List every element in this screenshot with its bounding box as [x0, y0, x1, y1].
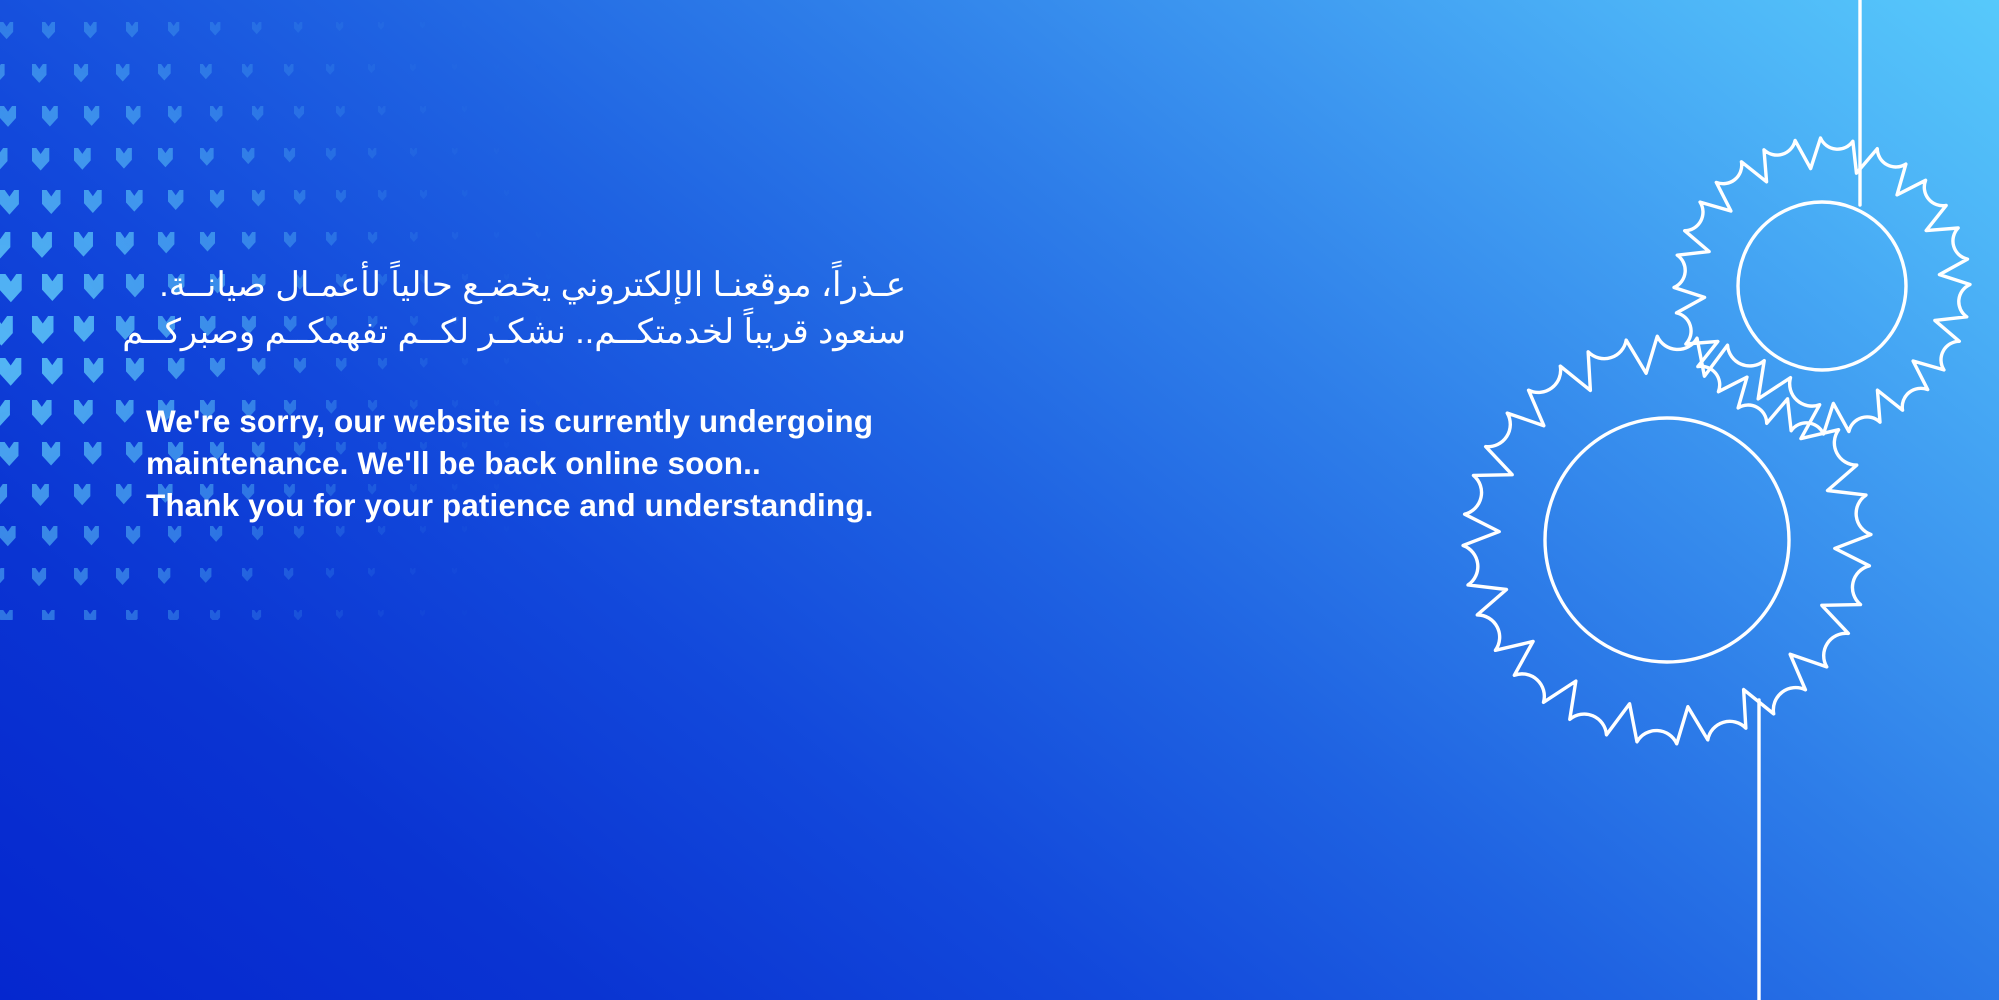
large-gear-hub	[1545, 418, 1789, 662]
gear-graphic	[1239, 0, 1999, 1000]
arabic-line-1: عـذراً، موقعنـا الإلكتروني يخضـع حالياً …	[146, 262, 906, 309]
small-gear	[1674, 138, 1970, 434]
arabic-message: عـذراً، موقعنـا الإلكتروني يخضـع حالياً …	[146, 262, 906, 356]
english-message: We're sorry, our website is currently un…	[146, 400, 906, 526]
maintenance-message: عـذراً، موقعنـا الإلكتروني يخضـع حالياً …	[146, 262, 906, 526]
english-line-2: maintenance. We'll be back online soon..	[146, 442, 906, 484]
english-line-1: We're sorry, our website is currently un…	[146, 400, 906, 442]
small-gear-hub	[1738, 202, 1906, 370]
maintenance-page: عـذراً، موقعنـا الإلكتروني يخضـع حالياً …	[0, 0, 1999, 1000]
arabic-line-2: سنعود قريباً لخدمتكــم.. نشكـر لكــم تفه…	[146, 309, 906, 356]
english-line-3: Thank you for your patience and understa…	[146, 484, 906, 526]
large-gear	[1463, 336, 1871, 744]
